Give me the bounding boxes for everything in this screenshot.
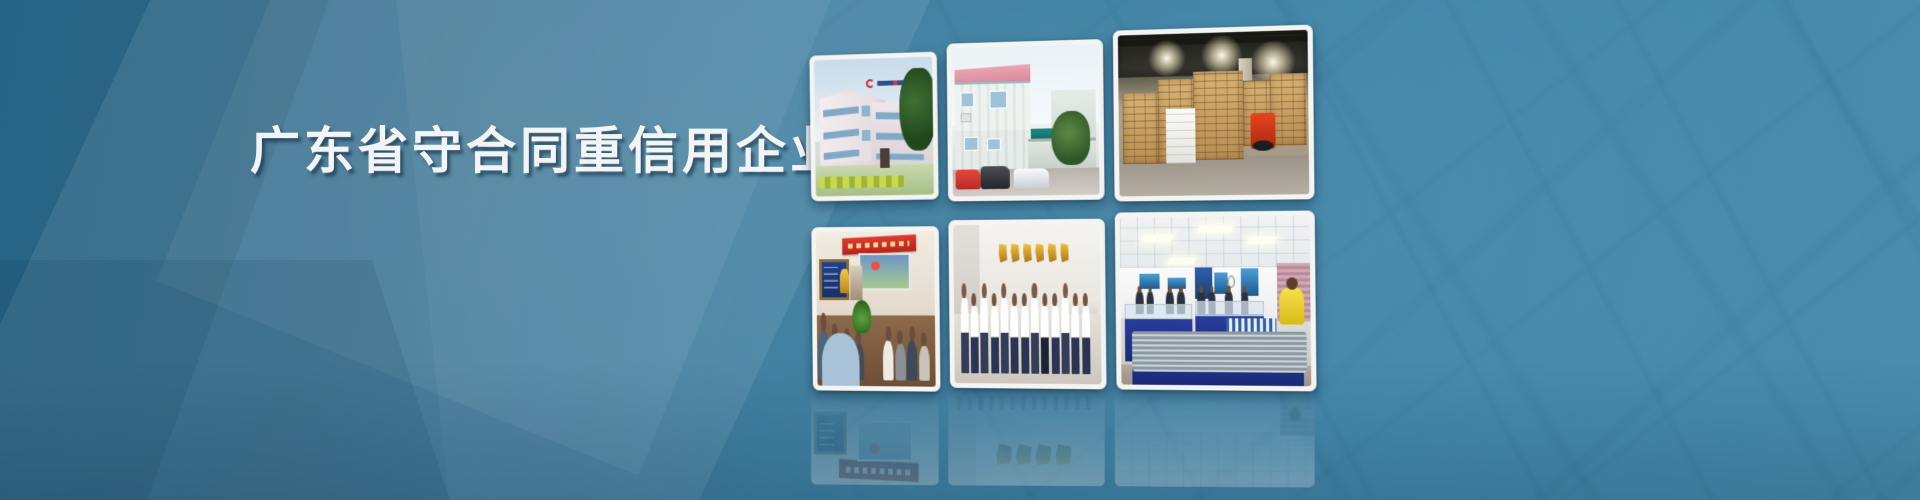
photo-team[interactable] <box>948 219 1106 390</box>
photo-meeting-room[interactable] <box>811 226 940 392</box>
photo-grid <box>809 26 1346 387</box>
photo-grid-reflection <box>811 380 1345 487</box>
reflection-cell <box>811 383 939 485</box>
photo-warehouse-interior[interactable] <box>1113 25 1315 202</box>
photo-grid-row-bottom <box>811 208 1316 389</box>
reflection-cell <box>948 382 1104 486</box>
photo-grid-row-top <box>809 27 1314 207</box>
forklift <box>1251 113 1276 149</box>
photo-office[interactable] <box>1115 211 1317 392</box>
reflection-cell <box>1115 381 1315 488</box>
lobby-sign-icon <box>998 243 1069 263</box>
photo-factory-exterior[interactable] <box>809 52 938 202</box>
company-banner: 广东省守合同重信用企业 <box>0 0 1920 500</box>
banner-headline: 广东省守合同重信用企业 <box>250 122 844 180</box>
photo-warehouse-exterior[interactable] <box>947 39 1105 201</box>
